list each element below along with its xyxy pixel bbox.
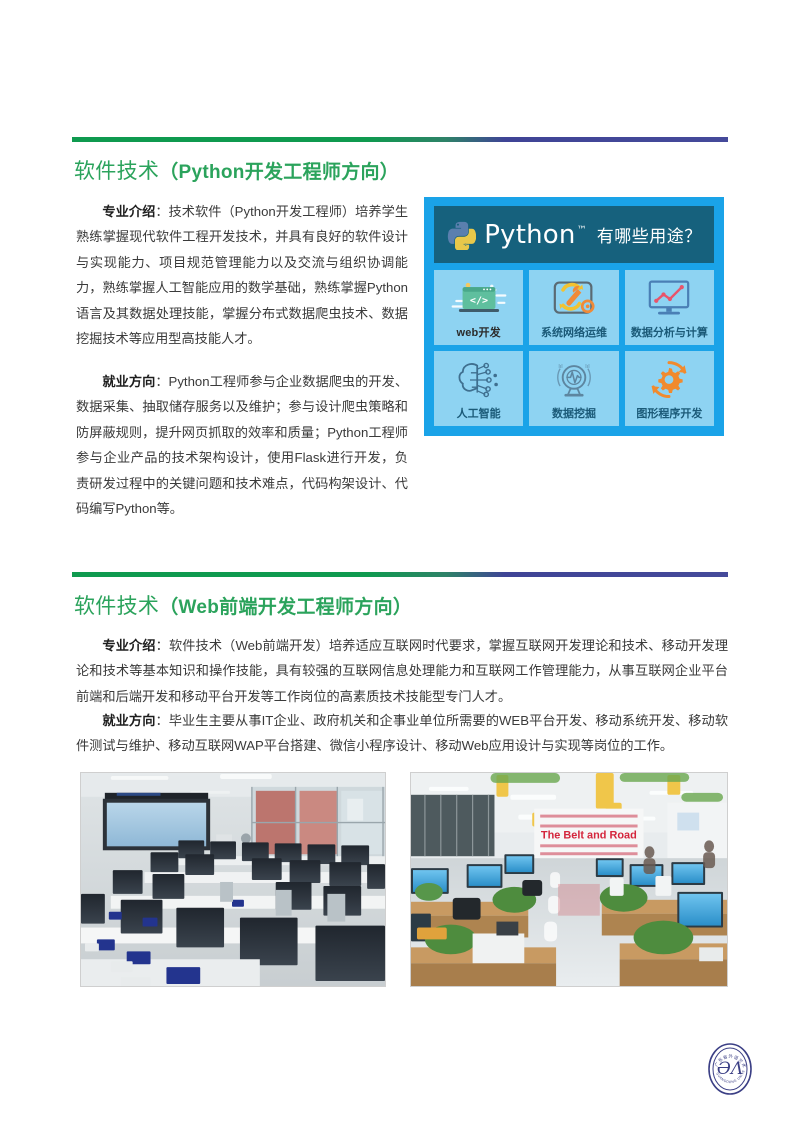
radar-pulse-icon: lıl lıl xyxy=(529,351,618,408)
infographic-cell-graphics-dev: 图形程序开发 xyxy=(625,351,714,426)
wordmark-text: Python xyxy=(484,220,575,250)
infographic-cell-web-dev: </> web开发 xyxy=(434,270,523,345)
career-body: Python工程师参与企业数据爬虫的开发、数据采集、抽取储存服务以及维护；参与设… xyxy=(76,374,408,516)
monitor-linechart-icon xyxy=(625,270,714,327)
section-heading-python: 软件技术（Python开发工程师方向） xyxy=(74,158,399,187)
infographic-cell-label: web开发 xyxy=(456,327,500,340)
infographic-cell-data-mining: lıl lıl 数据挖掘 xyxy=(529,351,618,426)
infographic-cell-label: 人工智能 xyxy=(457,408,501,421)
intro-body: 软件技术（Web前端开发）培养适应互联网时代要求，掌握互联网开发理论和技术、移动… xyxy=(76,638,728,704)
career-separator: ： xyxy=(155,374,168,389)
section-divider-python xyxy=(72,137,728,142)
document-page: 软件技术（Python开发工程师方向） 专业介绍：技术软件（Python开发工程… xyxy=(0,0,800,1124)
poster-banner-text: The Belt and Road xyxy=(541,829,637,841)
infographic-cell-label: 系统网络运维 xyxy=(541,327,607,340)
career-separator: ： xyxy=(155,713,168,728)
photo-office-lab: The Belt and Road xyxy=(410,772,728,987)
school-seal-logo: 广东省外语艺术职业学院 GUANGDONG UNIVERSITY ƏΛ xyxy=(706,1040,754,1098)
python-logo-icon xyxy=(446,220,476,250)
code-window-icon: </> xyxy=(434,270,523,327)
photo-computer-classroom xyxy=(80,772,386,987)
brain-network-icon xyxy=(434,351,523,408)
heading-sub-text: （Python开发工程师方向） xyxy=(159,162,399,183)
infographic-cell-label: 数据挖掘 xyxy=(552,408,596,421)
infographic-cell-data-analysis: 数据分析与计算 xyxy=(625,270,714,345)
infographic-question-text: 有哪些用途？ xyxy=(597,222,702,247)
intro-separator: ： xyxy=(156,638,169,653)
svg-text:ƏΛ: ƏΛ xyxy=(717,1059,743,1079)
infographic-cell-sysops: 系统网络运维 xyxy=(529,270,618,345)
career-body: 毕业生主要从事IT企业、政府机关和企事业单位所需要的WEB平台开发、移动系统开发… xyxy=(76,713,728,753)
trademark-symbol: ™ xyxy=(577,225,587,236)
heading-main-text: 软件技术 xyxy=(74,160,159,183)
infographic-cell-label: 数据分析与计算 xyxy=(631,327,708,340)
svg-text:lıl: lıl xyxy=(558,363,562,369)
career-label: 就业方向 xyxy=(102,713,155,728)
section-divider-web xyxy=(72,572,728,577)
python-usage-infographic: Python™ 有哪些用途？ xyxy=(424,197,724,436)
intro-label: 专业介绍 xyxy=(102,204,155,219)
infographic-cell-label: 图形程序开发 xyxy=(636,408,702,421)
python-wordmark: Python™ xyxy=(484,220,587,250)
heading-main-text: 软件技术 xyxy=(74,595,159,618)
svg-text:</>: </> xyxy=(470,295,488,306)
gear-refresh-icon xyxy=(625,351,714,408)
web-intro-paragraph: 专业介绍：软件技术（Web前端开发）培养适应互联网时代要求，掌握互联网开发理论和… xyxy=(76,633,728,709)
intro-body: 技术软件（Python开发工程师）培养学生熟练掌握现代软件工程开发技术，并具有良… xyxy=(76,204,408,346)
intro-separator: ： xyxy=(155,204,168,219)
python-intro-paragraph: 专业介绍：技术软件（Python开发工程师）培养学生熟练掌握现代软件工程开发技术… xyxy=(76,199,408,351)
python-career-paragraph: 就业方向：Python工程师参与企业数据爬虫的开发、数据采集、抽取储存服务以及维… xyxy=(76,369,408,521)
infographic-cell-grid: </> web开发 xyxy=(434,270,714,426)
intro-label: 专业介绍 xyxy=(102,638,155,653)
section-heading-web: 软件技术（Web前端开发工程师方向） xyxy=(74,593,412,622)
web-career-paragraph: 就业方向：毕业生主要从事IT企业、政府机关和企事业单位所需要的WEB平台开发、移… xyxy=(76,708,728,759)
svg-text:lıl: lıl xyxy=(585,363,589,369)
career-label: 就业方向 xyxy=(102,374,155,389)
wrench-gear-icon xyxy=(529,270,618,327)
infographic-cell-ai: 人工智能 xyxy=(434,351,523,426)
infographic-header: Python™ 有哪些用途？ xyxy=(434,206,714,263)
heading-sub-text: （Web前端开发工程师方向） xyxy=(159,597,412,618)
